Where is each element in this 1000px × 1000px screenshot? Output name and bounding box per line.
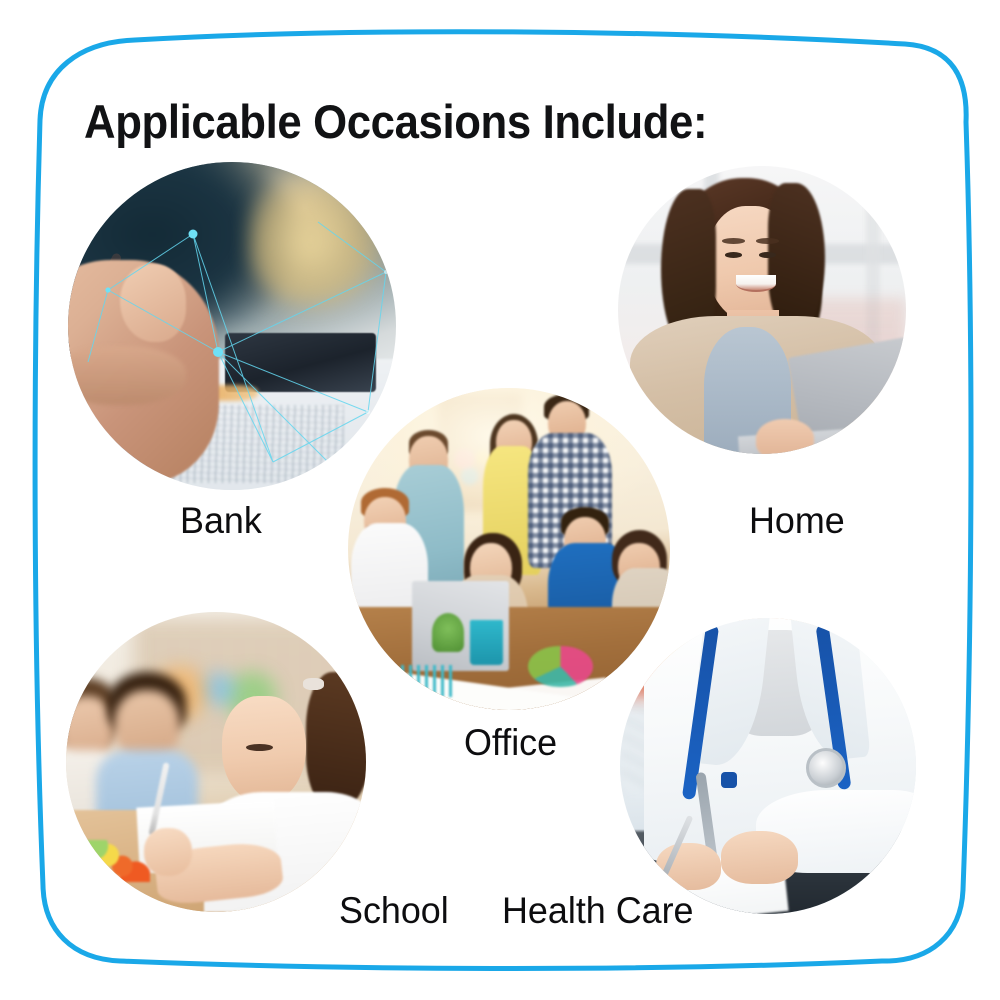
office-bar-chart <box>393 665 457 697</box>
health-writing-hand <box>721 831 798 884</box>
product-feature-card: Applicable Occasions Include: <box>0 0 1000 1000</box>
occasion-image-bank <box>68 162 396 490</box>
school-girl-hair-tie <box>303 678 324 690</box>
bank-network-overlay <box>68 162 396 490</box>
office-pie-chart <box>528 646 592 688</box>
occasion-image-school <box>66 612 366 912</box>
occasion-label-health-care: Health Care <box>502 890 694 932</box>
school-letter-shapes <box>84 840 150 882</box>
home-eyebrow-left <box>722 238 745 244</box>
occasion-label-school: School <box>339 890 449 932</box>
occasion-label-bank: Bank <box>180 500 262 542</box>
occasion-label-office: Office <box>464 722 557 764</box>
home-hand <box>756 419 814 454</box>
health-stethoscope-connector <box>721 772 737 788</box>
home-eyebrow-right <box>756 238 779 244</box>
home-smile <box>736 275 776 291</box>
occasion-label-home: Home <box>749 500 845 542</box>
page-title: Applicable Occasions Include: <box>84 94 707 149</box>
occasion-image-health-care <box>620 618 916 914</box>
school-girl-hand <box>144 828 192 876</box>
